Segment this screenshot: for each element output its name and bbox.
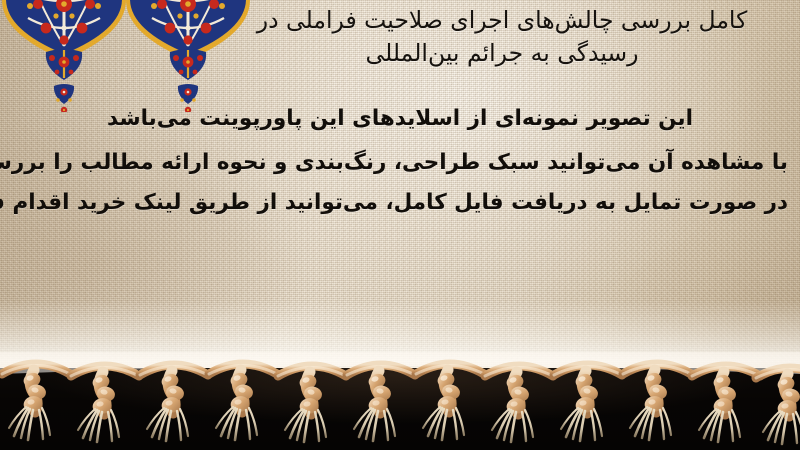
slide-canvas: کامل بررسی چالش‌های اجرای صلاحیت فراملی … [0, 0, 800, 450]
carpet-fringe [0, 352, 800, 450]
slide-title-line-2: رسیدگی به جرائم بین‌المللی [222, 37, 782, 70]
body-line-purchase-link: در صورت تمایل به دریافت فایل کامل، می‌تو… [12, 192, 788, 214]
slide-title-line-1: کامل بررسی چالش‌های اجرای صلاحیت فراملی … [222, 4, 782, 37]
body-line-sample-notice: این تصویر نمونه‌ای از اسلایدهای این پاور… [12, 108, 788, 130]
body-line-design-review: با مشاهده آن می‌توانید سبک طراحی، رنگ‌بن… [12, 152, 788, 174]
slide-body: این تصویر نمونه‌ای از اسلایدهای این پاور… [12, 108, 788, 214]
carpet-medallion-left-icon [0, 0, 134, 112]
slide-title: کامل بررسی چالش‌های اجرای صلاحیت فراملی … [222, 4, 782, 71]
